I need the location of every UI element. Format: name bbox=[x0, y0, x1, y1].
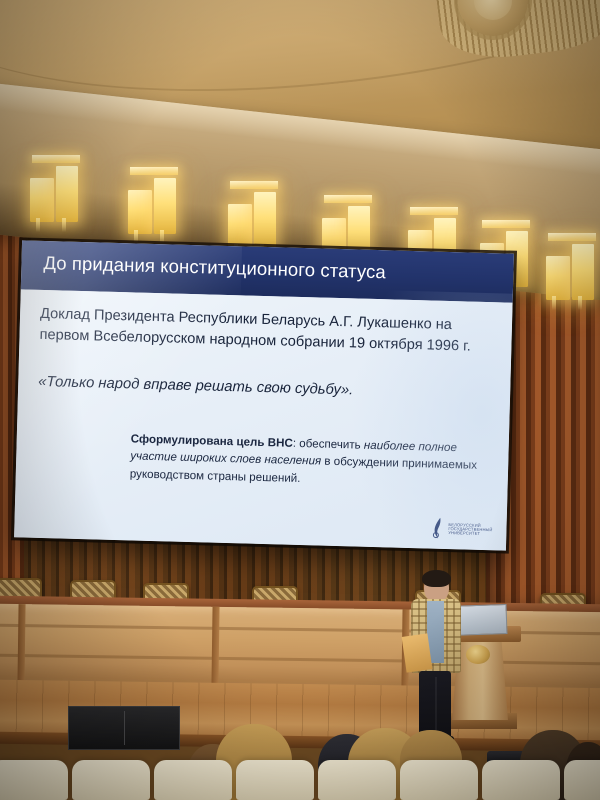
audience-seat bbox=[318, 760, 396, 800]
audience-seat bbox=[72, 760, 150, 800]
slide-goal-paragraph: Сформулирована цель ВНС: обеспечить наиб… bbox=[130, 430, 489, 492]
speaker-figure bbox=[408, 573, 464, 743]
bsu-line-3: УНИВЕРСИТЕТ bbox=[448, 531, 492, 536]
audience-seat bbox=[0, 760, 68, 800]
presidium-table-front bbox=[0, 604, 600, 691]
slide-goal-rest-1: : обеспечить bbox=[293, 437, 364, 452]
speaker-hair bbox=[422, 570, 451, 587]
audience-seat bbox=[482, 760, 560, 800]
slide-title: До придания конституционного статуса bbox=[43, 252, 499, 286]
bsu-logo-text: БЕЛОРУССКИЙ ГОСУДАРСТВЕННЫЙ УНИВЕРСИТЕТ bbox=[448, 523, 492, 537]
slide-report-paragraph: Доклад Президента Республики Беларусь А.… bbox=[39, 304, 498, 358]
speaker-trousers bbox=[419, 671, 451, 739]
flame-icon bbox=[431, 518, 445, 540]
chandelier-icon bbox=[228, 186, 284, 248]
projection-screen: До придания конституционного статуса Док… bbox=[14, 240, 514, 550]
speaker-papers bbox=[402, 633, 433, 672]
bsu-logo: БЕЛОРУССКИЙ ГОСУДАРСТВЕННЫЙ УНИВЕРСИТЕТ bbox=[431, 518, 493, 542]
chandelier-icon bbox=[128, 172, 184, 234]
audience-seat bbox=[564, 760, 600, 800]
stage-cabinet bbox=[68, 706, 180, 750]
auditorium-photo: До придания конституционного статуса Док… bbox=[0, 0, 600, 800]
audience-seat bbox=[400, 760, 478, 800]
podium-emblem-icon bbox=[466, 645, 490, 664]
slide-body: Доклад Президента Республики Беларусь А.… bbox=[14, 289, 513, 550]
audience-seat bbox=[236, 760, 314, 800]
chandelier-icon bbox=[546, 238, 600, 300]
slide-goal-bold: Сформулирована цель ВНС bbox=[131, 432, 293, 449]
slide-quote: «Только народ вправе решать свою судьбу»… bbox=[38, 372, 496, 405]
chandelier-icon bbox=[30, 160, 86, 222]
audience-seat bbox=[154, 760, 232, 800]
